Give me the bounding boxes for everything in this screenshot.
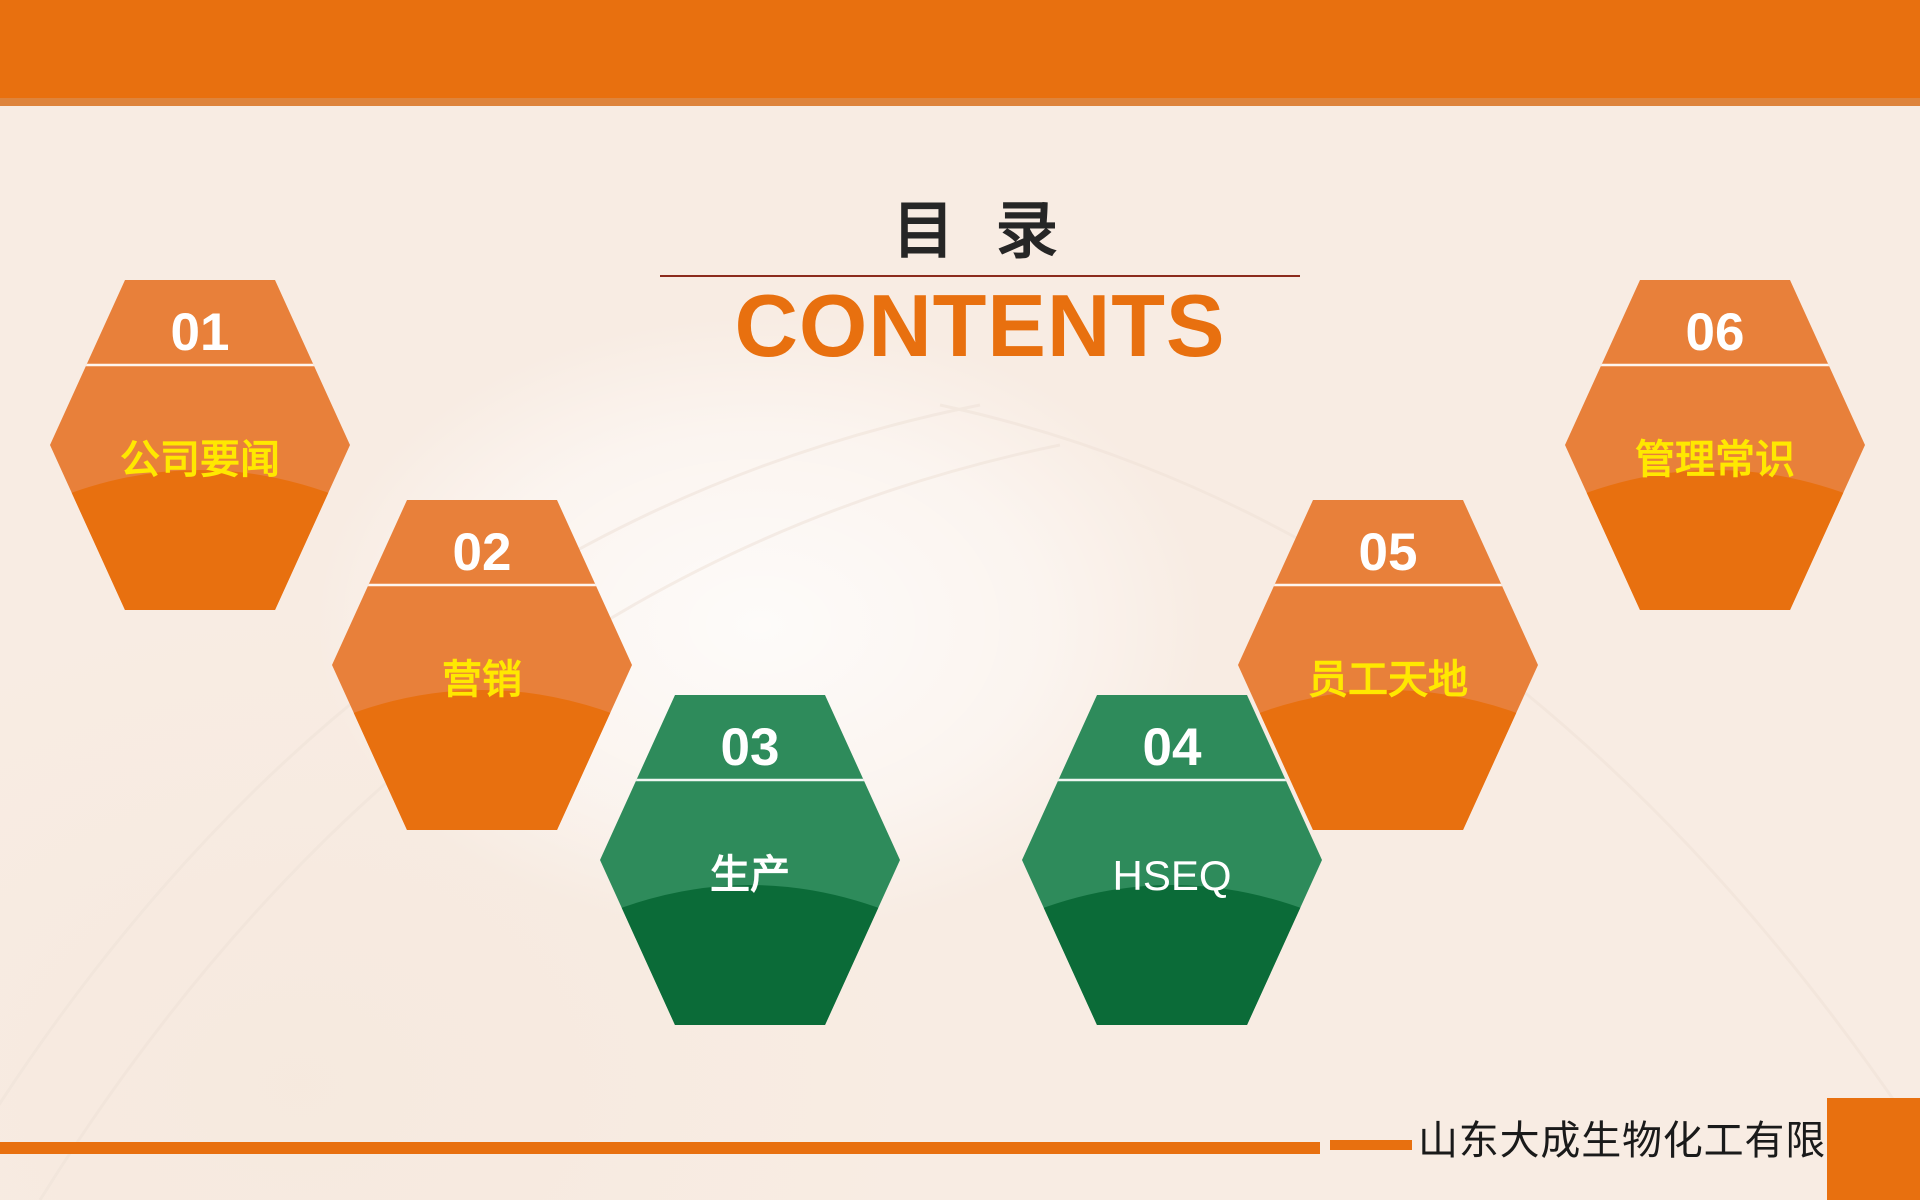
footer-corner-block	[1827, 1098, 1920, 1200]
footer-rule-left	[0, 1142, 1320, 1154]
toc-hexagon-01[interactable]: 01 公司要闻	[50, 280, 350, 610]
toc-number-02: 02	[332, 526, 632, 579]
toc-hexagon-05[interactable]: 05 员工天地	[1238, 500, 1538, 830]
toc-number-03: 03	[600, 721, 900, 774]
toc-number-01: 01	[50, 306, 350, 359]
toc-label-02: 营销	[332, 660, 632, 700]
toc-number-05: 05	[1238, 526, 1538, 579]
toc-number-06: 06	[1565, 306, 1865, 359]
footer-dash	[1330, 1140, 1412, 1150]
toc-hexagon-03[interactable]: 03 生产	[600, 695, 900, 1025]
top-banner-edge	[0, 98, 1920, 106]
toc-label-05: 员工天地	[1238, 660, 1538, 700]
toc-label-03: 生产	[600, 855, 900, 895]
page-title-en: CONTENTS	[660, 279, 1300, 372]
toc-hexagon-06[interactable]: 06 管理常识	[1565, 280, 1865, 610]
toc-label-01: 公司要闻	[50, 440, 350, 480]
toc-label-06: 管理常识	[1565, 440, 1865, 480]
toc-label-04: HSEQ	[1022, 855, 1322, 897]
toc-hexagon-02[interactable]: 02 营销	[332, 500, 632, 830]
title-block: 目 录 CONTENTS	[660, 198, 1300, 372]
top-banner	[0, 0, 1920, 98]
slide-canvas: 目 录 CONTENTS 01 公司要闻	[0, 0, 1920, 1200]
page-title-cn: 目 录	[660, 198, 1300, 263]
